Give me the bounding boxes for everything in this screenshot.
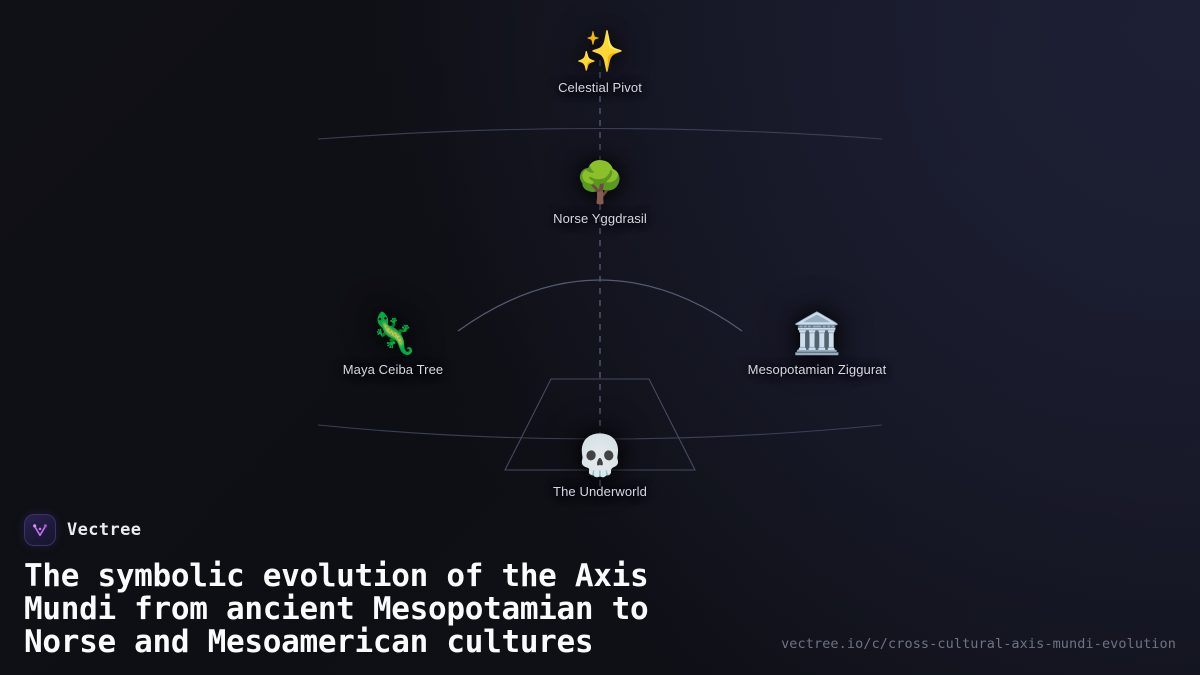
node-maya-ceiba-tree[interactable]: 🦎Maya Ceiba Tree — [263, 310, 523, 378]
headline: The symbolic evolution of the Axis Mundi… — [24, 560, 804, 659]
vectree-logo-icon — [24, 514, 56, 546]
sparkles-icon: ✨ — [470, 28, 730, 76]
lizard-icon: 🦎 — [263, 310, 523, 358]
node-the-underworld[interactable]: 💀The Underworld — [470, 432, 730, 500]
node-mesopotamian-ziggurat[interactable]: 🏛️Mesopotamian Ziggurat — [687, 310, 947, 378]
source-url: vectree.io/c/cross-cultural-axis-mundi-e… — [781, 636, 1176, 652]
deciduous-tree-icon: 🌳 — [470, 159, 730, 207]
node-label-the-underworld: The Underworld — [470, 484, 730, 500]
node-label-celestial-pivot: Celestial Pivot — [470, 80, 730, 96]
node-label-norse-yggdrasil: Norse Yggdrasil — [470, 211, 730, 227]
brand-block: Vectree — [24, 514, 1176, 546]
node-label-maya-ceiba-tree: Maya Ceiba Tree — [263, 362, 523, 378]
classical-building-icon: 🏛️ — [687, 310, 947, 358]
skull-icon: 💀 — [470, 432, 730, 480]
node-norse-yggdrasil[interactable]: 🌳Norse Yggdrasil — [470, 159, 730, 227]
node-celestial-pivot[interactable]: ✨Celestial Pivot — [470, 28, 730, 96]
celestial-vault-arc — [318, 129, 882, 140]
brand-name: Vectree — [67, 520, 141, 540]
slide-canvas: ✨Celestial Pivot🌳Norse Yggdrasil🦎Maya Ce… — [0, 0, 1200, 675]
node-label-mesopotamian-ziggurat: Mesopotamian Ziggurat — [687, 362, 947, 378]
